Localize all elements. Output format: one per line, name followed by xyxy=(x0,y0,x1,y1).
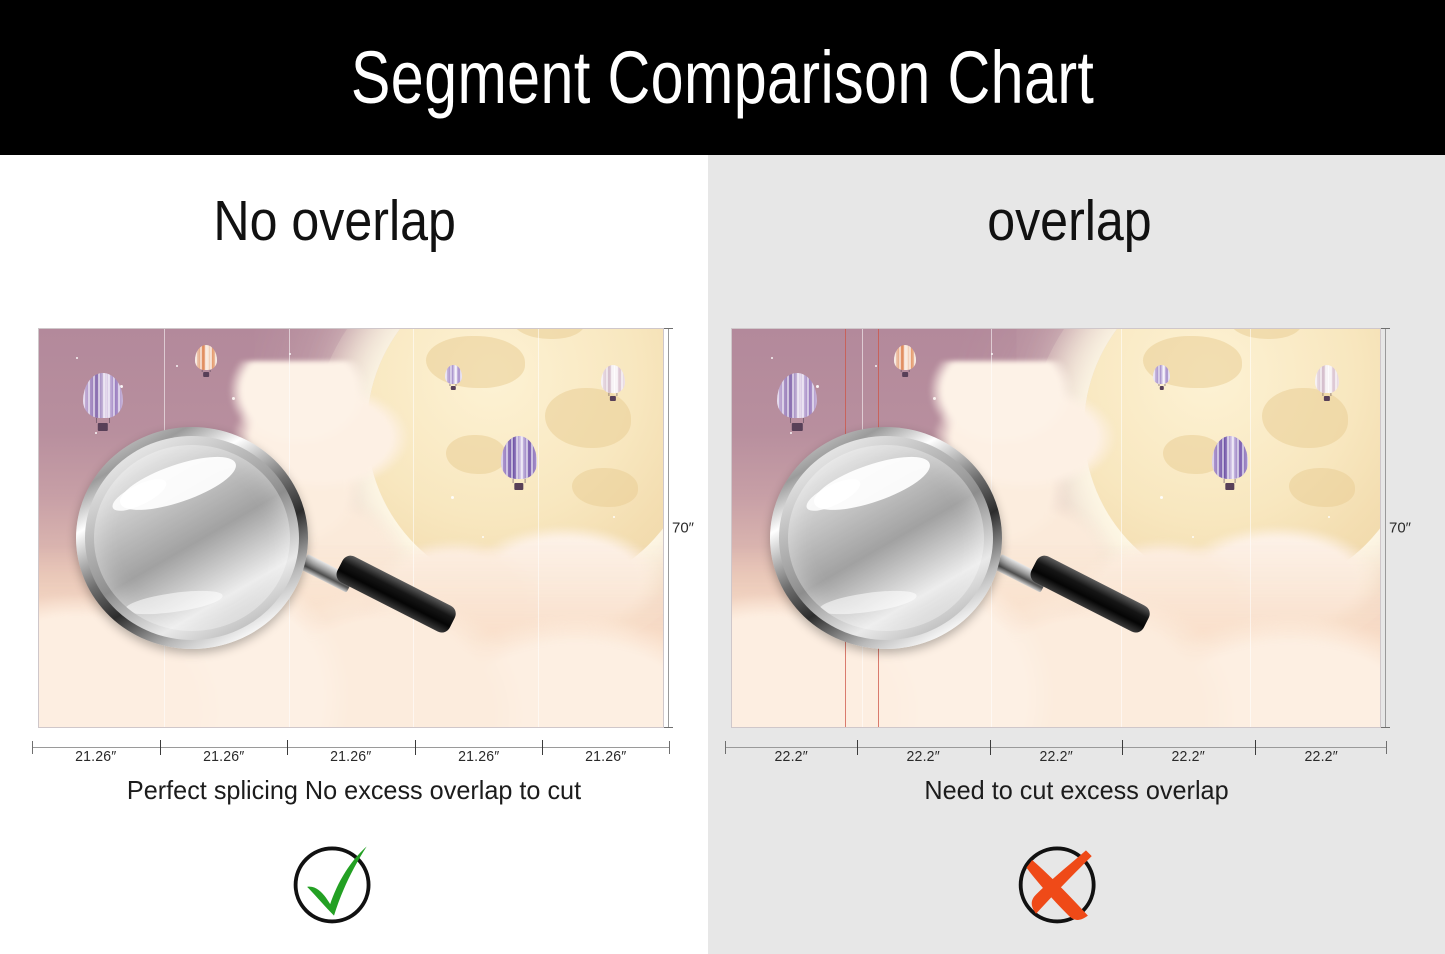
segment-label: 21.26″ xyxy=(36,748,156,765)
panel-heading-overlap: overlap xyxy=(752,193,1401,250)
balloon-orange-top xyxy=(195,345,217,377)
height-dimension-right: 70″ xyxy=(1381,328,1411,728)
segment-label: 22.2″ xyxy=(1126,748,1250,765)
balloon-small-moon xyxy=(445,365,462,390)
segment-label: 21.26″ xyxy=(546,748,666,765)
height-label: 70″ xyxy=(1389,520,1411,537)
segment-label: 22.2″ xyxy=(994,748,1118,765)
check-mark-icon xyxy=(286,835,382,931)
height-label: 70″ xyxy=(672,520,694,537)
segment-label: 21.26″ xyxy=(291,748,411,765)
balloon-small-moon xyxy=(1153,365,1170,390)
panel-no-overlap: No overlap xyxy=(0,155,708,954)
magnifier-icon xyxy=(64,421,638,716)
balloon-white-right xyxy=(601,365,625,401)
mural-image-left xyxy=(38,328,664,728)
magnifier-icon xyxy=(758,421,1354,716)
mural-overlap xyxy=(731,328,1381,728)
panel-overlap: overlap xyxy=(708,155,1445,954)
balloon-orange-top xyxy=(894,345,916,377)
caption-overlap: Need to cut excess overlap xyxy=(719,775,1434,806)
mural-image-right xyxy=(731,328,1381,728)
height-dimension-left: 70″ xyxy=(664,328,690,728)
segment-label: 22.2″ xyxy=(729,748,853,765)
mural-no-overlap xyxy=(38,328,664,728)
cross-mark-icon xyxy=(1013,835,1109,931)
segment-label: 22.2″ xyxy=(861,748,985,765)
segment-comparison-page: Segment Comparison Chart No overlap xyxy=(0,0,1445,954)
title-bar: Segment Comparison Chart xyxy=(0,0,1445,155)
page-title: Segment Comparison Chart xyxy=(351,35,1094,120)
segment-label: 22.2″ xyxy=(1259,748,1383,765)
comparison-panels: No overlap xyxy=(0,155,1445,954)
segment-label: 21.26″ xyxy=(163,748,283,765)
segment-label: 21.26″ xyxy=(419,748,539,765)
panel-heading-no-overlap: No overlap xyxy=(42,193,665,250)
balloon-white-right xyxy=(1315,365,1339,401)
caption-no-overlap: Perfect splicing No excess overlap to cu… xyxy=(11,775,698,806)
